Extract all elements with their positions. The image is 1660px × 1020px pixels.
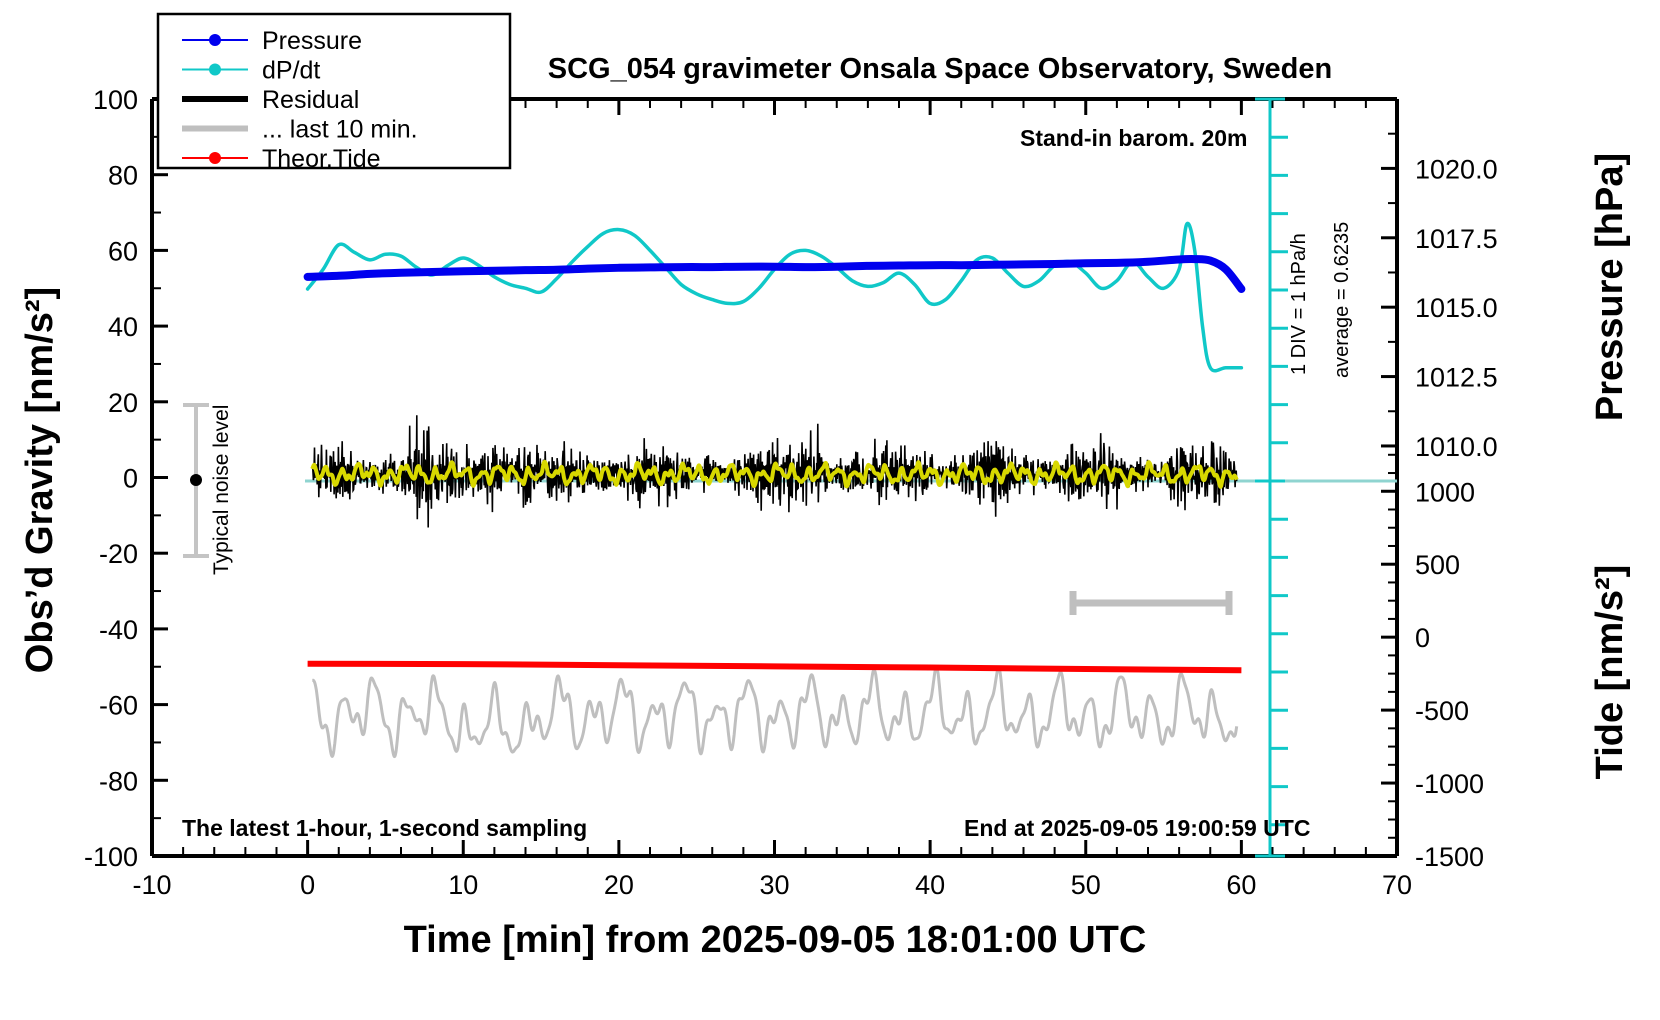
x-tick-label: 50	[1071, 870, 1101, 900]
y-tick-label: 100	[93, 85, 138, 115]
y-tick-label: 40	[108, 312, 138, 342]
gravimeter-plot-page: -10010203040506070 -100-80-60-40-2002040…	[0, 0, 1660, 1020]
x-tick-label: 10	[448, 870, 478, 900]
x-tick-label: 60	[1226, 870, 1256, 900]
tide-tick-label: -1000	[1415, 769, 1484, 799]
y-tick-label: 0	[123, 464, 138, 494]
legend-item-label: dP/dt	[262, 57, 320, 85]
x-tick-label: 70	[1382, 870, 1412, 900]
x-axis-title: Time [min] from 2025-09-05 18:01:00 UTC	[404, 919, 1147, 961]
y-tick-label: -20	[99, 539, 138, 569]
x-tick-label: 0	[300, 870, 315, 900]
tide-tick-label: -500	[1415, 696, 1469, 726]
dpdt-division-annotation: 1 DIV = 1 hPa/h	[1288, 233, 1310, 375]
legend-item-label: Pressure	[262, 27, 362, 55]
page-title: SCG_054 gravimeter Onsala Space Observat…	[548, 53, 1332, 85]
legend[interactable]: PressuredP/dtResidual... last 10 min.The…	[158, 14, 510, 173]
legend-marker-icon	[209, 34, 221, 46]
pressure-tick-label: 1020.0	[1415, 154, 1498, 184]
tide-axis-title: Tide [nm/s²]	[1589, 565, 1631, 780]
x-tick-label: -10	[132, 870, 171, 900]
x-tick-label: 20	[604, 870, 634, 900]
y-tick-label: -60	[99, 691, 138, 721]
dpdt-average-annotation: average = 0.6235	[1331, 222, 1353, 378]
y-tick-label: -100	[84, 842, 138, 872]
pressure-tick-label: 1017.5	[1415, 224, 1498, 254]
legend-item-label: Theor.Tide	[262, 145, 381, 173]
legend-marker-icon	[209, 64, 221, 76]
legend-item-label: Residual	[262, 86, 359, 114]
y-tick-label: 20	[108, 388, 138, 418]
y-tick-label: -80	[99, 766, 138, 796]
tide-tick-label: -1500	[1415, 842, 1484, 872]
pressure-tick-label: 1010.0	[1415, 432, 1498, 462]
pressure-axis-title: Pressure [hPa]	[1589, 153, 1631, 421]
sampling-annotation: The latest 1-hour, 1-second sampling	[182, 815, 587, 841]
y-tick-label: 60	[108, 236, 138, 266]
tide-tick-label: 0	[1415, 623, 1430, 653]
legend-marker-icon	[209, 152, 221, 164]
pressure-tick-label: 1012.5	[1415, 363, 1498, 393]
gravimeter-chart: -10010203040506070 -100-80-60-40-2002040…	[0, 0, 1660, 1020]
tide-tick-label: 1000	[1415, 477, 1475, 507]
stand-in-barometer-annotation: Stand-in barom. 20m	[1020, 125, 1247, 151]
pressure-tick-label: 1015.0	[1415, 293, 1498, 323]
y-axis-title: Obs’d Gravity [nm/s²]	[19, 287, 61, 673]
y-tick-label: 80	[108, 161, 138, 191]
end-time-annotation: End at 2025-09-05 19:00:59 UTC	[964, 815, 1310, 841]
x-tick-label: 40	[915, 870, 945, 900]
x-tick-label: 30	[759, 870, 789, 900]
tide-tick-label: 500	[1415, 550, 1460, 580]
y-tick-label: -40	[99, 615, 138, 645]
legend-item-label: ... last 10 min.	[262, 116, 418, 144]
typical-noise-level-label: Typical noise level	[210, 405, 233, 575]
